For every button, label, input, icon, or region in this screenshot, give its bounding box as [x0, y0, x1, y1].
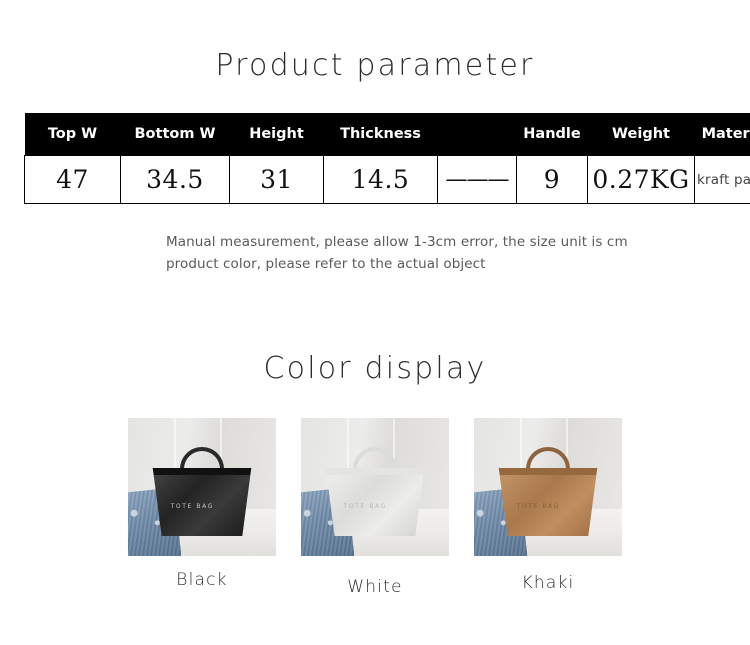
- spec-value-weight: 0.27KG: [588, 156, 695, 204]
- spec-table-header-row: Top W Bottom W Height Thickness Handle W…: [25, 113, 750, 156]
- tote-bag-icon: TOTE BAG: [319, 468, 431, 536]
- page-title-color-display: Color display: [0, 350, 750, 388]
- product-spec-table: Top W Bottom W Height Thickness Handle W…: [24, 113, 750, 204]
- bag-logo-text: TOTE BAG: [344, 503, 387, 510]
- color-label-black: Black: [128, 570, 276, 590]
- bag-body: [319, 468, 431, 536]
- spec-value-height: 31: [230, 156, 324, 204]
- color-option-white[interactable]: TOTE BAG White: [301, 418, 449, 597]
- color-option-black[interactable]: TOTE BAG Black: [128, 418, 276, 597]
- spec-value-thickness: 14.5: [324, 156, 438, 204]
- spec-value-blank: ———: [438, 156, 517, 204]
- spec-header-height: Height: [230, 113, 324, 156]
- tote-bag-icon: TOTE BAG: [492, 468, 604, 536]
- spec-header-thickness: Thickness: [324, 113, 438, 156]
- color-display-gallery: TOTE BAG Black TOTE BAG White: [0, 418, 750, 597]
- product-photo-white[interactable]: TOTE BAG: [301, 418, 449, 556]
- spec-value-bottom-width: 34.5: [121, 156, 230, 204]
- product-photo-khaki[interactable]: TOTE BAG: [474, 418, 622, 556]
- spec-header-blank: [438, 113, 517, 156]
- spec-header-handle: Handle: [517, 113, 588, 156]
- spec-value-material: kraft paper: [695, 156, 750, 204]
- spec-value-top-width: 47: [25, 156, 121, 204]
- bag-rim: [146, 468, 258, 475]
- bag-body: [492, 468, 604, 536]
- bag-rim: [319, 468, 431, 475]
- spec-header-top-width: Top W: [25, 113, 121, 156]
- spec-table-value-row: 47 34.5 31 14.5 ——— 9 0.27KG kraft paper: [25, 156, 750, 204]
- measurement-note: Manual measurement, please allow 1-3cm e…: [166, 231, 736, 275]
- color-option-khaki[interactable]: TOTE BAG Khaki: [474, 418, 622, 597]
- bag-logo-text: TOTE BAG: [171, 503, 214, 510]
- color-label-khaki: Khaki: [474, 573, 622, 593]
- spec-header-material: Material: [695, 113, 750, 156]
- spec-header-bottom-width: Bottom W: [121, 113, 230, 156]
- bag-body: [146, 468, 258, 536]
- spec-header-weight: Weight: [588, 113, 695, 156]
- color-label-white: White: [301, 577, 449, 597]
- tote-bag-icon: TOTE BAG: [146, 468, 258, 536]
- bag-rim: [492, 468, 604, 475]
- page-title-product-parameter: Product parameter: [0, 47, 750, 85]
- spec-value-handle: 9: [517, 156, 588, 204]
- product-photo-black[interactable]: TOTE BAG: [128, 418, 276, 556]
- measurement-note-line-1: Manual measurement, please allow 1-3cm e…: [166, 231, 736, 253]
- measurement-note-line-2: product color, please refer to the actua…: [166, 253, 736, 275]
- bag-logo-text: TOTE BAG: [517, 503, 560, 510]
